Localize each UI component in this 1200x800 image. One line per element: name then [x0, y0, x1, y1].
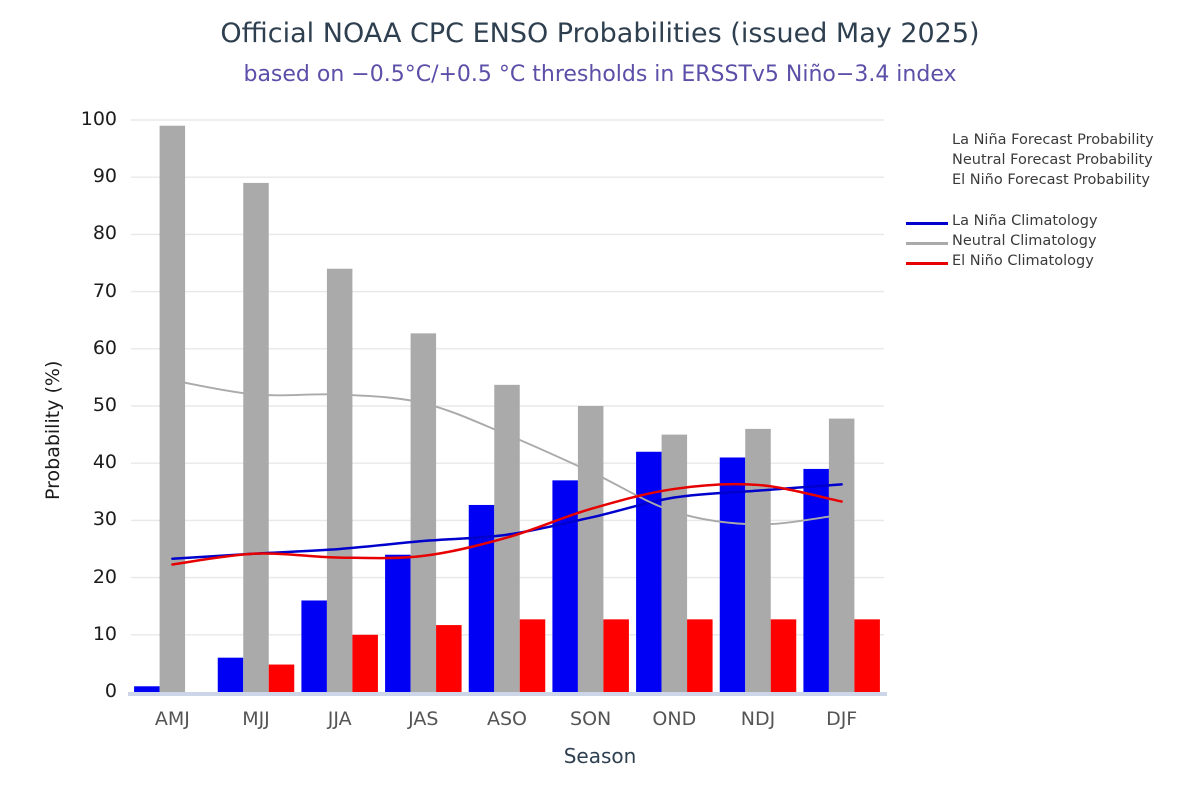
y-tick-label: 100: [57, 108, 117, 130]
legend-line-entry-2: El Niño Climatology: [952, 253, 1094, 269]
x-tick-label-djf: DJF: [802, 708, 882, 730]
x-tick-label-mjj: MJJ: [216, 708, 296, 730]
legend-line-entry-1: Neutral Climatology: [952, 233, 1097, 249]
y-tick-label: 90: [57, 165, 117, 187]
x-tick-label-aso: ASO: [467, 708, 547, 730]
plot-area: [0, 0, 1200, 800]
y-tick-label: 80: [57, 222, 117, 244]
x-tick-label-son: SON: [551, 708, 631, 730]
y-tick-label: 0: [57, 680, 117, 702]
y-tick-label: 50: [57, 394, 117, 416]
legend-bar-entry-2: El Niño Forecast Probability: [952, 172, 1150, 188]
legend-bar-entry-1: Neutral Forecast Probability: [952, 152, 1153, 168]
x-tick-label-ond: OND: [634, 708, 714, 730]
legend-line-entry-0: La Niña Climatology: [952, 213, 1098, 229]
y-tick-label: 30: [57, 508, 117, 530]
bar-series-group: [134, 126, 880, 692]
y-tick-label: 60: [57, 337, 117, 359]
legend-line-swatch-2: [906, 262, 948, 265]
x-tick-label-ndj: NDJ: [718, 708, 798, 730]
x-tick-label-amj: AMJ: [132, 708, 212, 730]
legend-line-swatch-0: [906, 222, 948, 225]
x-tick-label-jja: JJA: [300, 708, 380, 730]
y-tick-label: 40: [57, 451, 117, 473]
legend-bar-entry-0: La Niña Forecast Probability: [952, 132, 1154, 148]
legend-line-swatch-1: [906, 242, 948, 245]
y-tick-label: 70: [57, 280, 117, 302]
x-tick-label-jas: JAS: [383, 708, 463, 730]
chart-figure: Official NOAA CPC ENSO Probabilities (is…: [0, 0, 1200, 800]
y-tick-label: 20: [57, 566, 117, 588]
y-tick-label: 10: [57, 623, 117, 645]
